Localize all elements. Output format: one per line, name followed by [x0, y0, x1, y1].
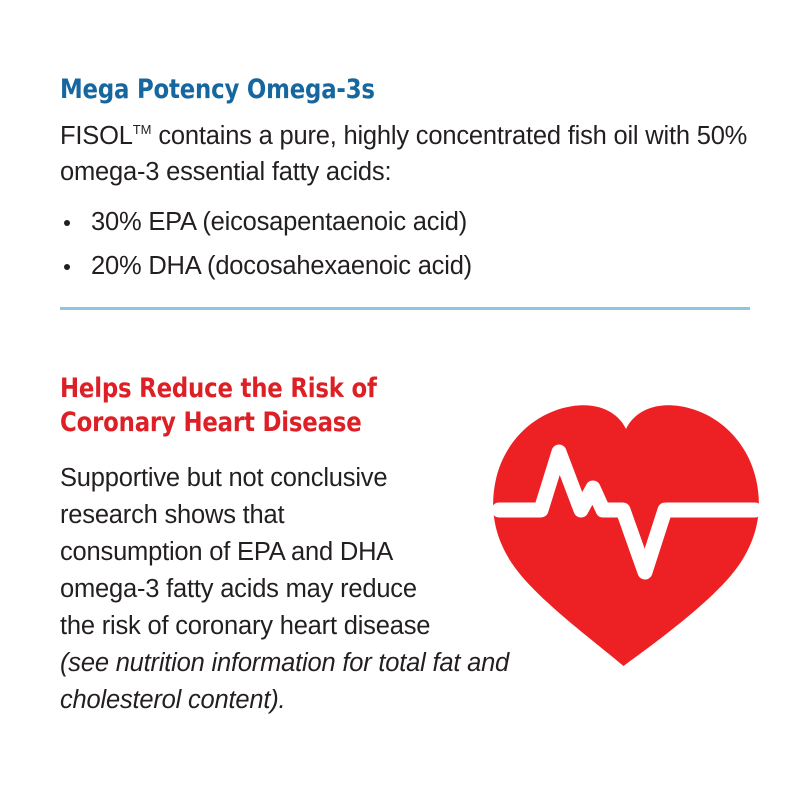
- heart-health-heading: Helps Reduce the Risk of Coronary Heart …: [60, 372, 502, 440]
- heart-health-paragraph: Supportive but not conclusive research s…: [60, 460, 530, 719]
- fisol-description-text: contains a pure, highly concentrated fis…: [60, 122, 747, 186]
- paragraph-line: consumption of EPA and DHA: [60, 534, 530, 571]
- paragraph-line: Supportive but not conclusive: [60, 460, 530, 497]
- paragraph-line-disclaimer: (see nutrition information for total fat…: [60, 645, 530, 682]
- list-item: 20% DHA (docosahexaenoic acid): [60, 244, 750, 288]
- paragraph-line-disclaimer: cholesterol content).: [60, 682, 530, 719]
- trademark-symbol: TM: [133, 122, 152, 137]
- infographic-page: Mega Potency Omega-3s FISOLTM contains a…: [0, 0, 800, 800]
- mega-potency-section: Mega Potency Omega-3s FISOLTM contains a…: [60, 74, 750, 288]
- paragraph-line: the risk of coronary heart disease: [60, 608, 530, 645]
- heart-health-section: Helps Reduce the Risk of Coronary Heart …: [60, 372, 530, 719]
- heart-with-ekg-icon: [493, 398, 759, 666]
- omega-composition-list: 30% EPA (eicosapentaenoic acid) 20% DHA …: [60, 200, 750, 288]
- mega-potency-heading: Mega Potency Omega-3s: [60, 74, 709, 106]
- fisol-brand-name: FISOL: [60, 122, 133, 150]
- list-item: 30% EPA (eicosapentaenoic acid): [60, 200, 750, 244]
- heart-health-heading-line-2: Coronary Heart Disease: [60, 406, 502, 440]
- fisol-description-paragraph: FISOLTM contains a pure, highly concentr…: [60, 112, 750, 190]
- section-divider: [60, 307, 750, 310]
- paragraph-line: omega-3 fatty acids may reduce: [60, 571, 530, 608]
- paragraph-line: research shows that: [60, 497, 530, 534]
- heart-health-heading-line-1: Helps Reduce the Risk of: [60, 372, 502, 406]
